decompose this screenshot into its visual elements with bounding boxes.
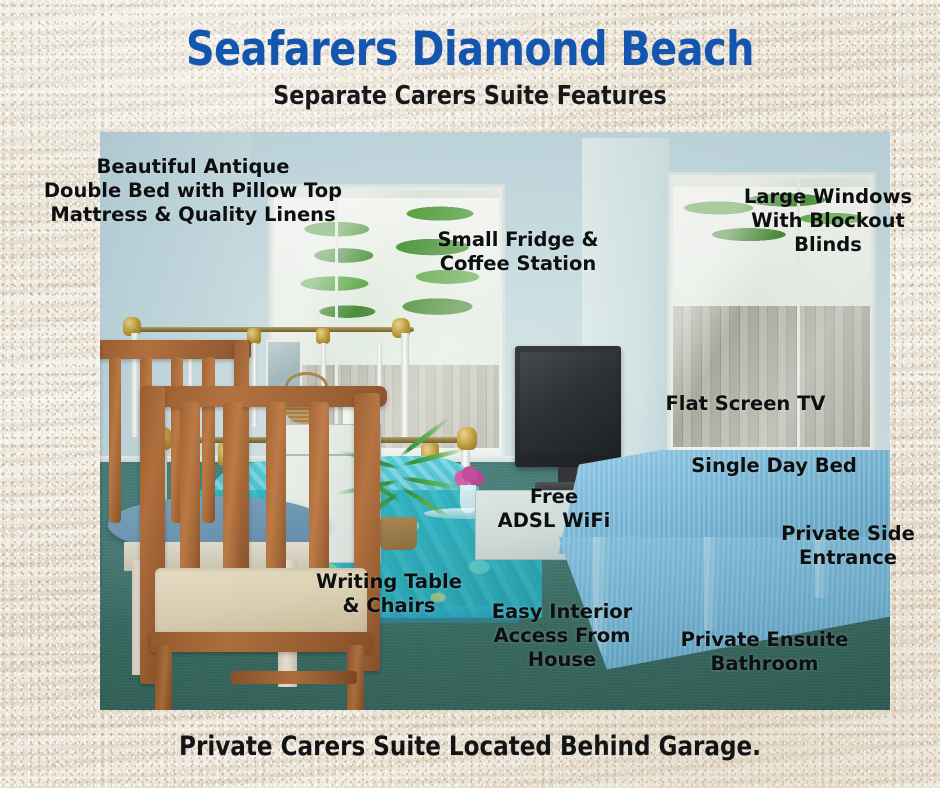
- callout-large-windows: Large Windows With Blockout Blinds: [728, 185, 928, 256]
- poster-canvas: Seafarers Diamond Beach Separate Carers …: [0, 0, 940, 788]
- flat-screen-tv: [515, 346, 622, 467]
- callout-writing-table: Writing Table & Chairs: [300, 570, 478, 618]
- callout-private-side-entrance: Private Side Entrance: [768, 522, 928, 570]
- chair-stretcher: [231, 671, 357, 684]
- bed-brass-knob-2: [316, 328, 331, 344]
- bed-post-right-upper: [401, 333, 409, 437]
- bed-head-rail-top: [130, 327, 413, 332]
- title-block: Seafarers Diamond Beach Separate Carers …: [0, 0, 940, 111]
- chair-slat: [109, 357, 121, 523]
- callout-antique-bed: Beautiful Antique Double Bed with Pillow…: [28, 155, 358, 226]
- callout-easy-interior-access: Easy Interior Access From House: [478, 600, 646, 671]
- callout-private-ensuite: Private Ensuite Bathroom: [672, 628, 857, 676]
- callout-fridge-coffee: Small Fridge & Coffee Station: [418, 228, 618, 276]
- callout-single-day-bed: Single Day Bed: [684, 454, 864, 478]
- footer-caption: Private Carers Suite Located Behind Gara…: [24, 731, 917, 762]
- page-subtitle: Separate Carers Suite Features: [24, 81, 917, 111]
- palm-frond: [400, 475, 465, 491]
- chair-leg: [155, 645, 173, 710]
- tv-screen: [520, 352, 616, 454]
- page-title: Seafarers Diamond Beach: [28, 26, 912, 74]
- callout-free-wifi: Free ADSL WiFi: [490, 485, 618, 533]
- chair-slat: [309, 402, 329, 583]
- chair-slat: [180, 402, 200, 583]
- callout-flat-screen-tv: Flat Screen TV: [658, 392, 833, 416]
- chair-slat: [223, 402, 243, 583]
- chair-slat: [266, 402, 286, 583]
- chair-front: [140, 386, 393, 710]
- chair-seat-frame: [150, 632, 372, 651]
- drape-fold: [704, 537, 718, 630]
- palm-frond: [399, 484, 452, 520]
